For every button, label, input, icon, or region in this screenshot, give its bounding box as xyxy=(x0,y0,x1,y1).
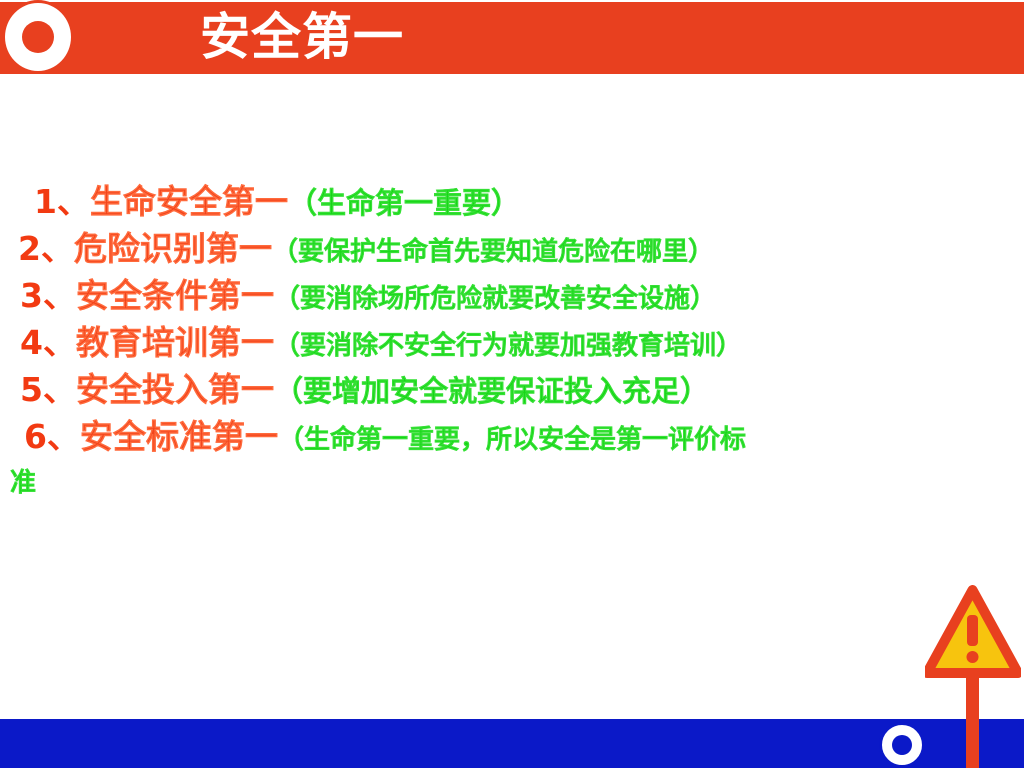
page-title: 安全第一 xyxy=(0,2,1024,74)
item-topic: 安全投入第一 xyxy=(76,370,274,409)
item-gloss: （生命第一重要） xyxy=(288,186,520,220)
item-topic: 安全标准第一 xyxy=(80,417,278,456)
list-item: 4、教育培训第一（要消除不安全行为就要加强教育培训） xyxy=(0,319,1000,366)
list-item-continuation: 准 xyxy=(0,460,1000,507)
circle-target-emblem-icon xyxy=(879,722,925,768)
circle-target-logo-icon xyxy=(2,0,74,74)
list-item: 5、安全投入第一（要增加安全就要保证投入充足） xyxy=(0,366,1000,413)
item-number: 3、 xyxy=(20,276,76,315)
exclamation-dot xyxy=(967,651,979,663)
principle-list: 1、生命安全第一（生命第一重要） 2、危险识别第一（要保护生命首先要知道危险在哪… xyxy=(0,178,1000,507)
item-number: 5、 xyxy=(20,370,76,409)
item-gloss: （要消除不安全行为就要加强教育培训） xyxy=(274,331,742,361)
sign-post xyxy=(966,671,979,768)
header-banner: 安全第一 xyxy=(0,2,1024,74)
item-number: 6、 xyxy=(24,417,80,456)
item-gloss: （要保护生命首先要知道危险在哪里） xyxy=(272,237,714,267)
emblem-inner-dot xyxy=(892,735,912,755)
list-item: 2、危险识别第一（要保护生命首先要知道危险在哪里） xyxy=(0,225,1000,272)
warning-exclamation-sign-icon xyxy=(925,585,1021,768)
item-gloss: （要消除场所危险就要改善安全设施） xyxy=(274,284,716,314)
item-gloss: （要增加安全就要保证投入充足） xyxy=(274,374,709,408)
item-number: 1、 xyxy=(34,182,90,221)
item-gloss: （生命第一重要，所以安全是第一评价标 xyxy=(278,425,746,455)
list-item: 3、安全条件第一（要消除场所危险就要改善安全设施） xyxy=(0,272,1000,319)
item-topic: 危险识别第一 xyxy=(74,229,272,268)
logo-inner-dot xyxy=(22,21,54,53)
list-item: 1、生命安全第一（生命第一重要） xyxy=(0,178,1000,225)
item-gloss-wrap: 准 xyxy=(10,468,36,498)
item-topic: 生命安全第一 xyxy=(90,182,288,221)
exclamation-bar xyxy=(967,615,978,646)
item-topic: 教育培训第一 xyxy=(76,323,274,362)
list-item: 6、安全标准第一（生命第一重要，所以安全是第一评价标 xyxy=(0,413,1000,460)
item-number: 4、 xyxy=(20,323,76,362)
footer-bar xyxy=(0,719,1024,768)
item-topic: 安全条件第一 xyxy=(76,276,274,315)
item-number: 2、 xyxy=(18,229,74,268)
